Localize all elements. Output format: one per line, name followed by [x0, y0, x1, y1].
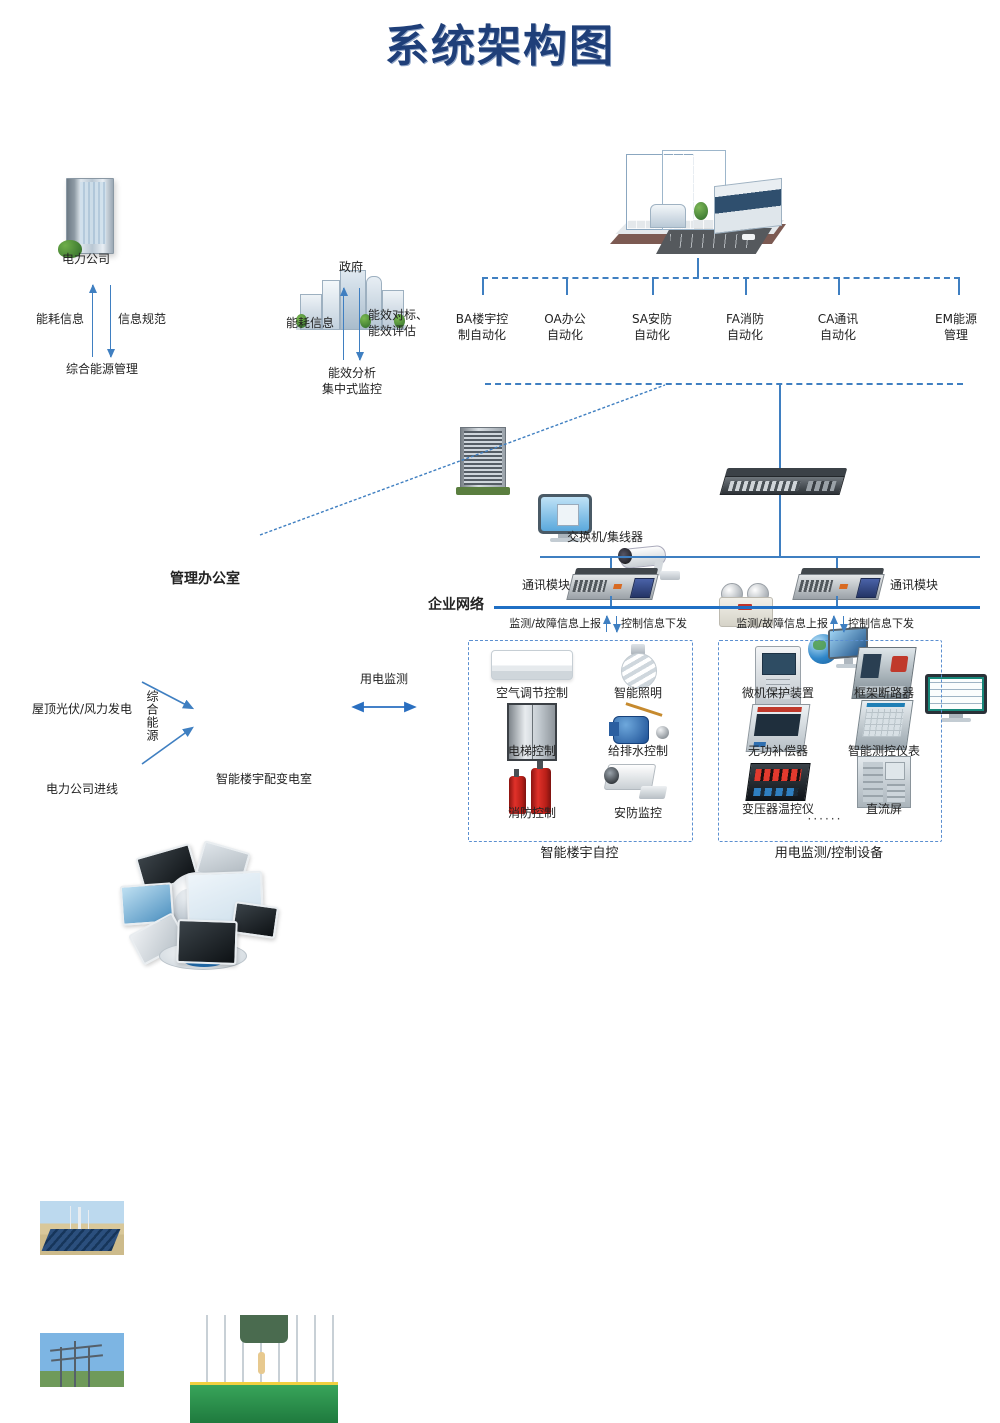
pm-item-label-3: 无功补偿器: [728, 744, 828, 759]
subsystem-label-3-line1: SA安防: [612, 312, 692, 327]
air-conditioner-icon: [482, 648, 582, 682]
page-title: 系统架构图: [0, 10, 1000, 74]
smart-building-icon: [610, 150, 786, 260]
flow-up-label-left: 监测/故障信息上报: [483, 616, 601, 631]
comm-module-label-right: 通讯模块: [890, 578, 970, 593]
subsystem-label-3-line2: 自动化: [612, 328, 692, 343]
enterprise-network-label: 企业网络: [428, 598, 498, 613]
government-down-arrow-label-2: 能效评估: [368, 324, 448, 339]
communication-module-icon: [570, 568, 656, 602]
integrated-energy-management-label: 综合能源管理: [24, 362, 180, 377]
subsystem-label-5-line1: CA通讯: [798, 312, 878, 327]
power-company-up-arrow: [92, 285, 93, 357]
water-valve-icon: [590, 700, 686, 750]
power-company-down-arrow: [110, 285, 111, 357]
power-company-building-icon: [66, 178, 1000, 254]
pm-item-label-2: 框架断路器: [836, 686, 932, 701]
enterprise-network-bus: [494, 606, 980, 609]
switch-downlink-line: [779, 495, 781, 556]
ba-item-label-5: 消防控制: [482, 806, 582, 821]
flow-up-arrow-right: [833, 616, 834, 632]
subsystem-label-6-line2: 管理: [916, 328, 996, 343]
power-monitoring-arrow-label: 用电监测: [346, 672, 422, 687]
dc-panel-icon: [836, 756, 932, 808]
pm-item-label-1: 微机保护装置: [728, 686, 828, 701]
subsystem-label-2-line1: OA办公: [525, 312, 605, 327]
energy-analysis-label: 能效分析: [288, 366, 416, 381]
network-switch-icon: [723, 468, 843, 498]
flow-down-label-right: 控制信息下发: [848, 616, 952, 631]
management-office-link-line: [255, 380, 675, 540]
ba-item-label-2: 智能照明: [590, 686, 686, 701]
flow-down-arrow-left: [616, 616, 617, 632]
subsystem-drop-5: [838, 277, 840, 295]
subsystem-drop-4: [745, 277, 747, 295]
cfl-bulb-icon: [590, 644, 686, 688]
government-up-arrow: [343, 288, 344, 360]
subsystem-label-6-line1: EM能源: [916, 312, 996, 327]
subsystem-bus-line: [482, 277, 960, 279]
ba-item-label-6: 安防监控: [590, 806, 686, 821]
management-office-label: 管理办公室: [125, 572, 285, 587]
power-line-photo: [40, 1333, 124, 1387]
subsystem-label-2-line2: 自动化: [525, 328, 605, 343]
solar-wind-label: 屋顶光伏/风力发电: [18, 702, 146, 717]
subsystem-label-1-line1: BA楼宇控: [440, 312, 524, 327]
government-down-arrow: [359, 288, 360, 360]
flow-up-arrow-left: [606, 616, 607, 632]
management-office-screens-icon: [125, 850, 285, 975]
subsystem-label-5-line2: 自动化: [798, 328, 878, 343]
government-label: 政府: [291, 260, 411, 275]
power-company-up-arrow-label: 能耗信息: [12, 312, 84, 327]
substation-label: 智能楼宇配变电室: [188, 772, 340, 787]
subsystem-drop-3: [652, 277, 654, 295]
substation-room-photo: [190, 1315, 338, 1423]
smart-measurement-meter-icon: [836, 700, 932, 750]
switch-label: 交换机/集线器: [525, 530, 685, 545]
government-down-arrow-label-1: 能效对标、: [368, 308, 448, 323]
subsystem-drop-6: [958, 277, 960, 295]
ba-item-label-3: 电梯控制: [482, 744, 582, 759]
integrated-energy-arrow-label: 综合能源: [144, 690, 161, 742]
switch-uplink-line: [779, 383, 781, 471]
ba-item-label-1: 空气调节控制: [482, 686, 582, 701]
subsystem-label-4-line1: FA消防: [705, 312, 785, 327]
subsystem-drop-1: [482, 277, 484, 295]
power-company-down-arrow-label: 信息规范: [118, 312, 198, 327]
power-company-label: 电力公司: [26, 252, 146, 267]
flow-down-arrow-right: [843, 616, 844, 632]
power-monitoring-ellipsis: ······: [760, 812, 890, 827]
rooftop-solar-wind-photo: [40, 1201, 124, 1255]
ba-item-label-4: 给排水控制: [590, 744, 686, 759]
communication-module-icon: [796, 568, 882, 602]
switch-distribution-bus: [540, 556, 980, 558]
subsystem-label-1-line2: 制自动化: [440, 328, 524, 343]
comm-module-label-left: 通讯模块: [494, 578, 570, 593]
subsystem-label-4-line2: 自动化: [705, 328, 785, 343]
power-monitoring-arrow: [348, 692, 420, 722]
security-camera-icon: [590, 762, 686, 806]
building-drop-line: [697, 258, 699, 278]
power-monitoring-group-caption: 用电监测/控制设备: [718, 846, 940, 861]
subsystem-drop-2: [566, 277, 568, 295]
flow-up-label-right: 监测/故障信息上报: [710, 616, 828, 631]
government-up-arrow-label: 能耗信息: [262, 316, 334, 331]
grid-incoming-label: 电力公司进线: [26, 782, 138, 797]
building-automation-group-caption: 智能楼宇自控: [468, 846, 691, 861]
transformer-temp-controller-icon: [728, 762, 828, 802]
